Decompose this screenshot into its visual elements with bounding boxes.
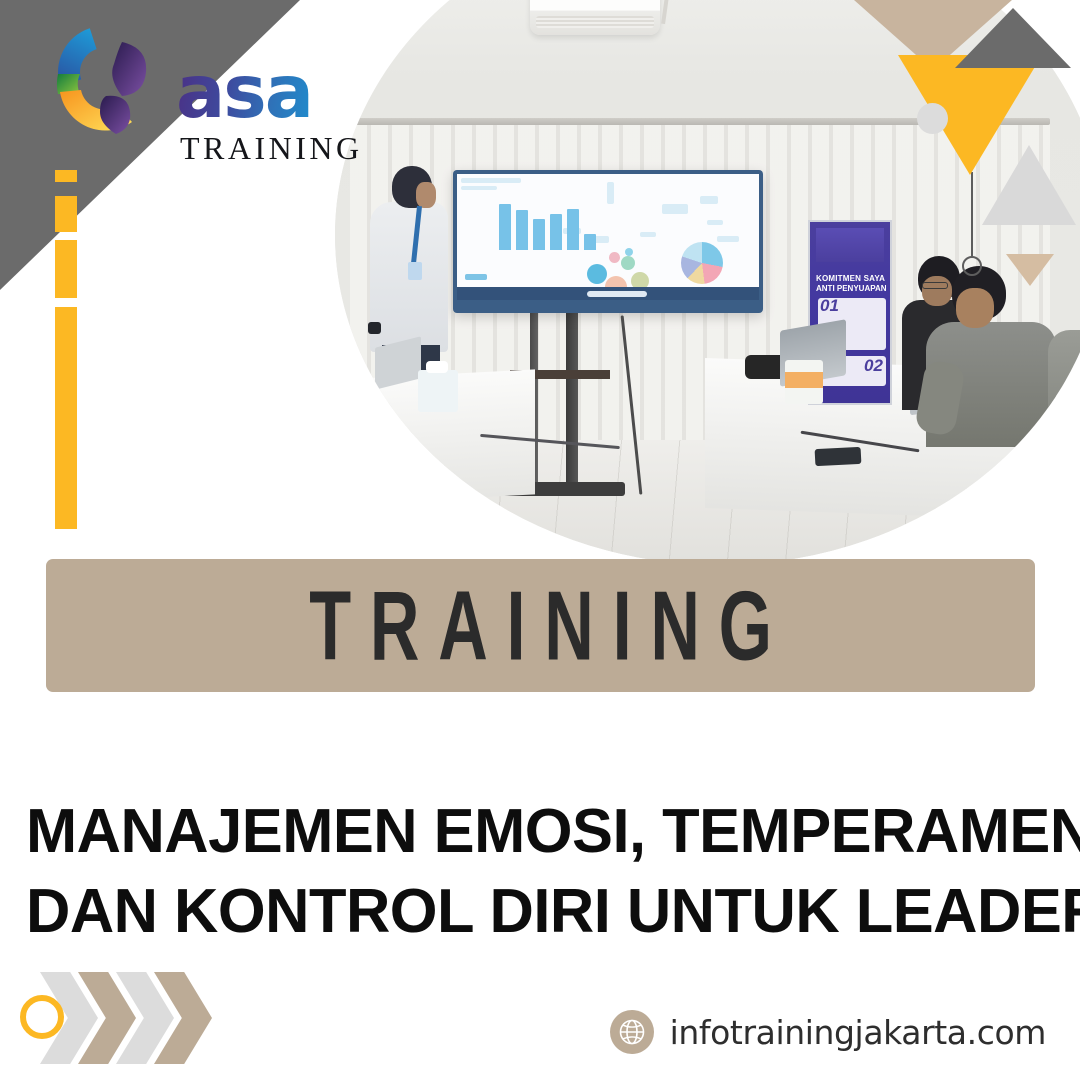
standee-number-1: 01 [820,296,839,316]
triangle-up-lightgray-icon [982,145,1076,225]
tv-stand-post [566,310,578,490]
standee-line1: KOMITMEN SAYA [816,274,885,283]
pie-chart [681,242,723,284]
bar-chart [499,200,596,250]
presenter-badge [408,262,422,280]
circle-white-icon [917,103,948,134]
presenter-watch [368,322,381,334]
website-url[interactable]: infotrainingjakarta.com [670,1013,1046,1052]
triangle-up-gray-icon [955,8,1071,68]
website-footer[interactable]: infotrainingjakarta.com [610,1008,1046,1056]
asa-circular-logo-mark-icon [36,18,174,166]
yellow-dash-segment [55,196,77,232]
tissue-box [418,370,458,412]
yellow-dash-segment [55,307,77,529]
circle-outline-yellow-icon [20,995,64,1039]
logo-wordmark: asa [176,56,312,129]
training-banner: TRAINING [46,559,1035,692]
standee-header [816,228,884,262]
page-title: MANAJEMEN EMOSI, TEMPERAMEN DAN KONTROL … [26,792,1058,952]
page-title-line-1: MANAJEMEN EMOSI, TEMPERAMEN [26,792,1048,872]
presentation-display [453,170,763,313]
standee-number-2: 02 [864,356,883,376]
poster-canvas: KOMITMEN SAYA ANTI PENYUAPAN 01 02 [0,0,1080,1080]
display-toolbar [457,287,759,300]
air-conditioner-icon [530,0,660,35]
chevron-group [20,972,200,1064]
phone [815,447,862,466]
training-banner-label: TRAINING [290,576,790,675]
tissue-box [785,360,823,404]
yellow-dash-segment [55,240,77,298]
participant-body [1048,330,1080,470]
logo-subtitle: TRAINING [180,130,363,167]
page-title-line-2: DAN KONTROL DIRI UNTUK LEADER [26,872,1048,952]
eyeglasses-icon [922,282,948,289]
participant-face [956,288,994,328]
hanging-ring-icon [962,256,982,276]
hanging-line [971,172,973,258]
dashboard-screen [457,174,759,300]
globe-icon [610,1010,654,1054]
ac-pipe [661,0,671,24]
standee-line2: ANTI PENYUAPAN [816,284,887,293]
triangle-down-tan-small-icon [1006,254,1054,286]
brand-logo[interactable]: asa TRAINING [28,18,348,178]
participant-face [922,276,952,306]
presenter-face [416,182,436,208]
